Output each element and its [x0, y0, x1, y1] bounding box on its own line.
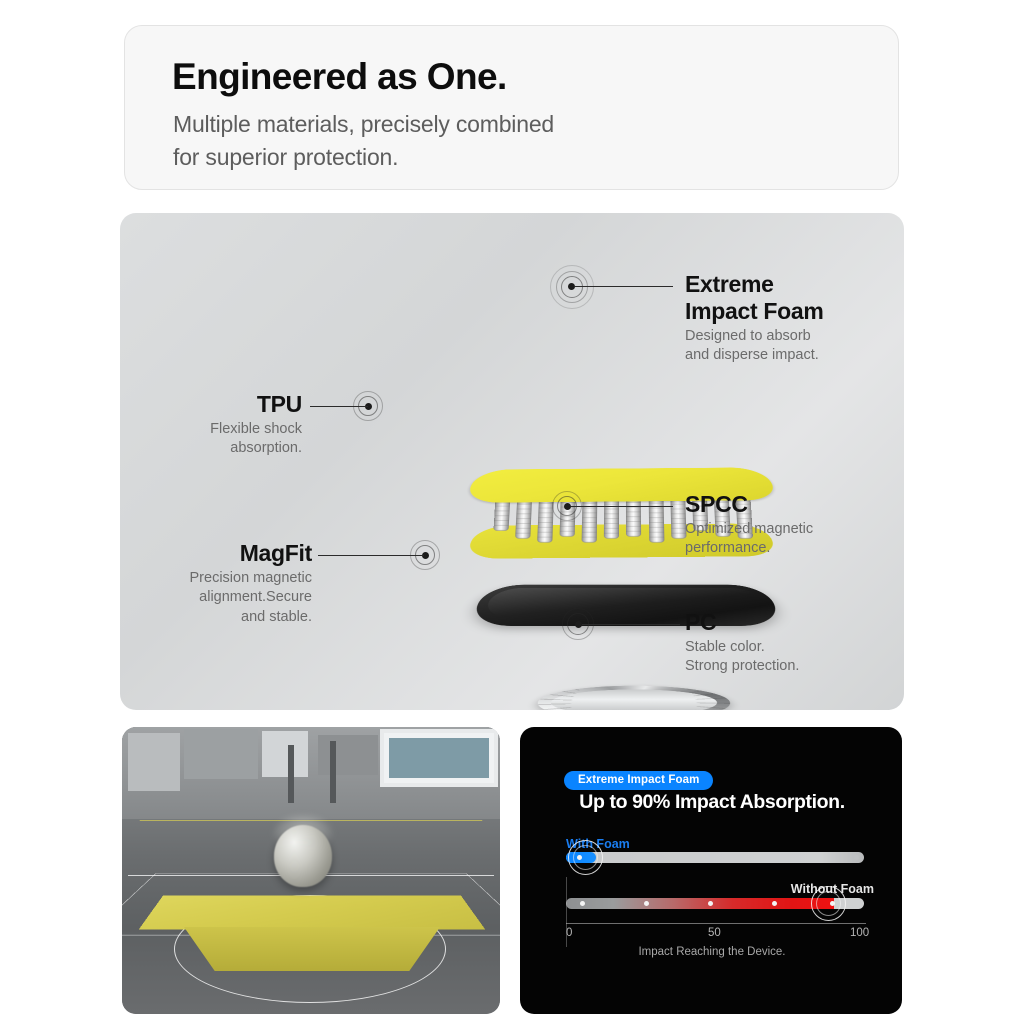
lab-post — [288, 745, 294, 803]
label-desc: Designed to absorb and disperse impact. — [685, 327, 824, 366]
lab-cabinet — [184, 729, 258, 779]
label-name: SPCC — [685, 491, 813, 518]
callout-dot-pc — [575, 621, 582, 628]
bar-marker-dot — [772, 901, 777, 906]
infographic-page: Engineered as One. Multiple materials, p… — [0, 0, 1024, 1024]
axis-tick-50: 50 — [708, 927, 721, 939]
bar-knob-ring-with-foam — [573, 845, 598, 870]
callout-dot-foam — [568, 283, 575, 290]
exploded-diagram-panel: Extreme Impact Foam Designed to absorb a… — [120, 213, 904, 710]
page-subtitle-line2: for superior protection. — [173, 141, 554, 174]
label-name-line2: Impact Foam — [685, 298, 824, 325]
label-name: MagFit — [140, 540, 312, 567]
impact-ball — [274, 825, 332, 887]
label-desc-line1: Optimized magnetic — [685, 520, 813, 539]
axis-tick-0: 0 — [566, 927, 572, 939]
bar-knob-ring-without-foam — [816, 891, 841, 916]
bar-track-with-foam[interactable] — [566, 852, 864, 863]
test-foam-block — [152, 875, 472, 947]
foam-block-side — [184, 927, 440, 971]
label-desc: Optimized magnetic performance. — [685, 520, 813, 559]
page-title: Engineered as One. — [172, 56, 507, 98]
label-name: TPU — [150, 391, 302, 418]
label-desc-line1: Precision magnetic — [140, 569, 312, 588]
callout-line-tpu — [310, 406, 368, 407]
label-desc-line2: performance. — [685, 539, 813, 558]
bar-marker-dot — [708, 901, 713, 906]
label-spcc: SPCC Optimized magnetic performance. — [685, 491, 813, 559]
callout-line-magfit — [318, 555, 424, 556]
lab-cabinet — [262, 731, 308, 777]
label-name-line1: Extreme — [685, 271, 824, 298]
label-desc-line1: Designed to absorb — [685, 327, 824, 346]
page-subtitle: Multiple materials, precisely combined f… — [173, 108, 554, 173]
callout-dot-spcc — [564, 503, 571, 510]
label-desc-line3: and stable. — [140, 608, 312, 627]
drop-test-photo — [122, 727, 500, 1014]
axis-tick-100: 100 — [850, 927, 869, 939]
label-name: PC — [685, 609, 799, 636]
chart-axis-horizontal — [566, 923, 866, 924]
chart-x-axis-label: Impact Reaching the Device. — [542, 946, 882, 958]
label-desc: Flexible shock absorption. — [150, 420, 302, 459]
chart-badge: Extreme Impact Foam — [564, 771, 713, 790]
spcc-ring-knurling — [532, 686, 737, 710]
callout-line-foam — [575, 286, 673, 287]
label-desc: Precision magnetic alignment.Secure and … — [140, 569, 312, 627]
chart-title: Up to 90% Impact Absorption. — [542, 791, 882, 814]
label-desc-line2: and disperse impact. — [685, 346, 824, 365]
header-card: Engineered as One. Multiple materials, p… — [124, 25, 899, 190]
lab-cabinet — [128, 733, 180, 791]
callout-line-spcc — [571, 506, 673, 507]
label-desc-line2: alignment.Secure — [140, 588, 312, 607]
diagram-stage: Extreme Impact Foam Designed to absorb a… — [120, 213, 904, 710]
bar-marker-dot — [644, 901, 649, 906]
impact-absorption-chart-card: Extreme Impact Foam Up to 90% Impact Abs… — [520, 727, 902, 1014]
lab-window — [380, 729, 498, 787]
label-desc-line1: Flexible shock — [150, 420, 302, 439]
foam-pillar — [648, 494, 664, 542]
lab-post — [330, 741, 336, 803]
bar-marker-dot — [580, 901, 585, 906]
label-pc: PC Stable color. Strong protection. — [685, 609, 799, 677]
label-desc-line1: Stable color. — [685, 638, 799, 657]
callout-line-pc — [582, 624, 680, 625]
label-extreme-impact-foam: Extreme Impact Foam Designed to absorb a… — [685, 271, 824, 366]
label-tpu: TPU Flexible shock absorption. — [150, 391, 302, 459]
lab-cabinet — [318, 735, 378, 775]
bar-end-dot — [854, 855, 859, 860]
label-desc: Stable color. Strong protection. — [685, 638, 799, 677]
page-subtitle-line1: Multiple materials, precisely combined — [173, 108, 554, 141]
label-desc-line2: absorption. — [150, 439, 302, 458]
label-magfit: MagFit Precision magnetic alignment.Secu… — [140, 540, 312, 627]
foam-block-top — [139, 895, 485, 929]
label-desc-line2: Strong protection. — [685, 657, 799, 676]
